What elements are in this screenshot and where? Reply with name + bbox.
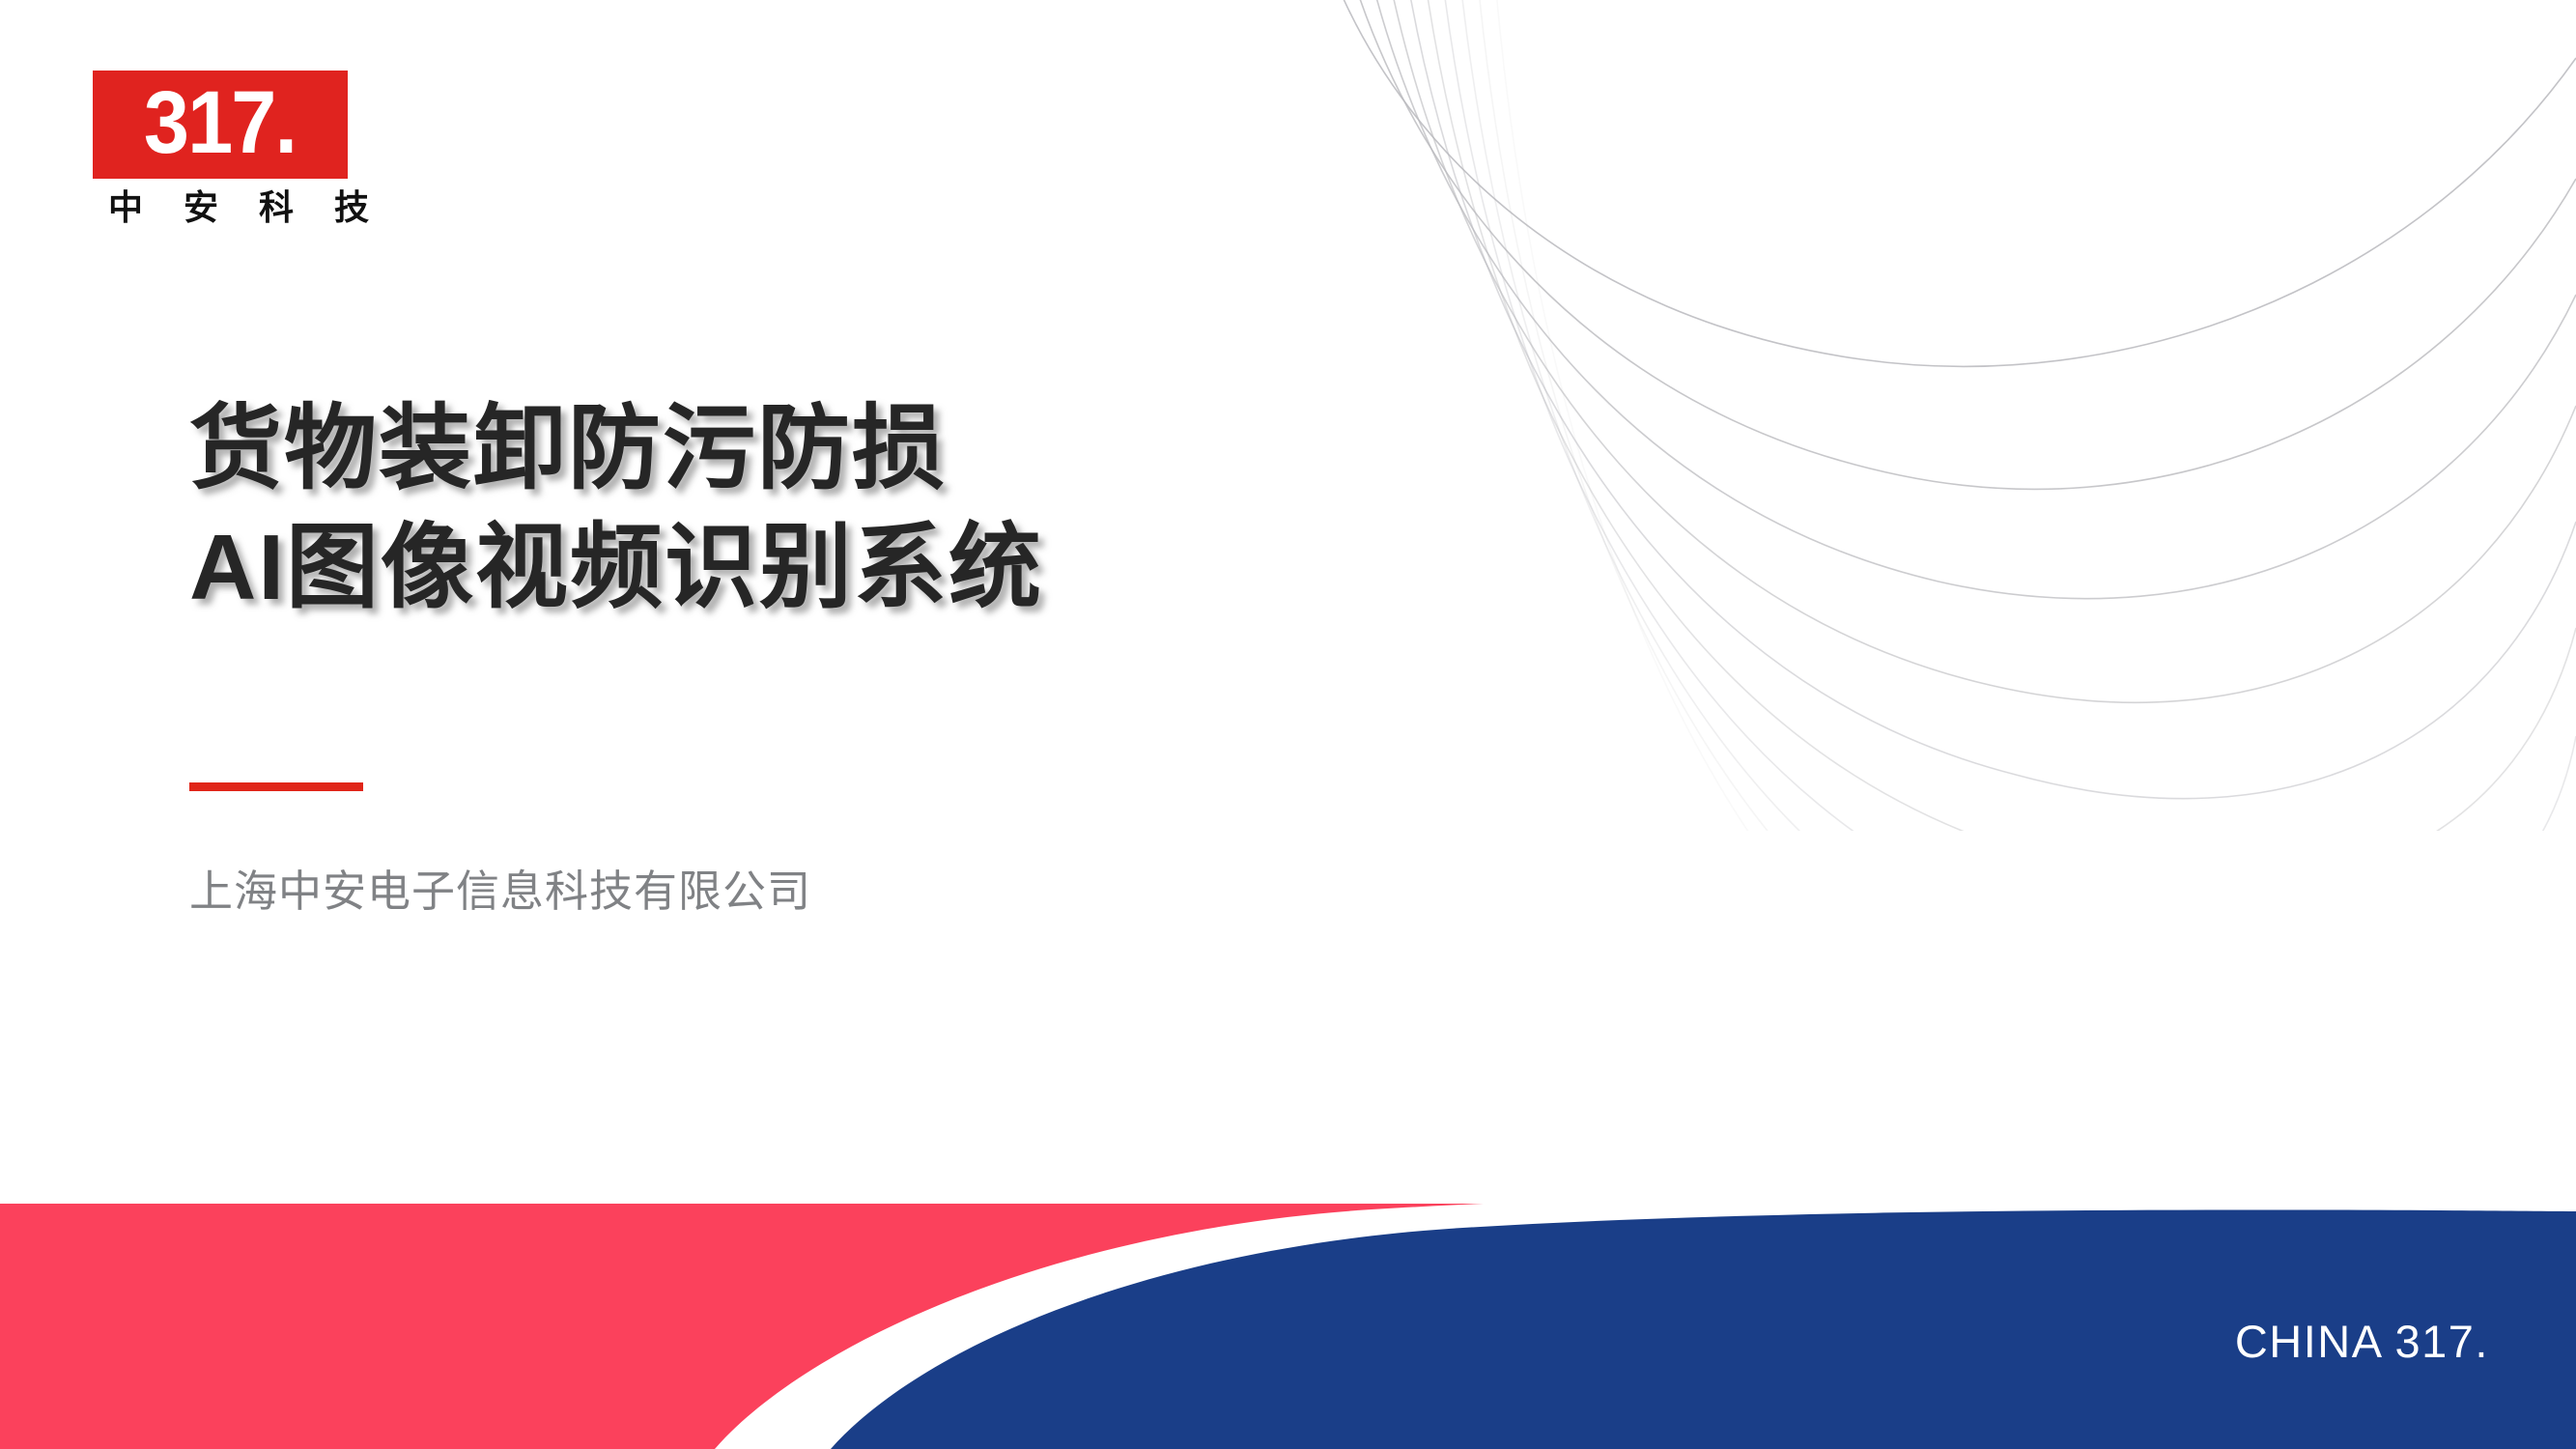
footer-banner: CHINA 317. [0, 1204, 2576, 1449]
page-title-line-2: AI图像视频识别系统 [189, 509, 1445, 628]
company-name-subtitle: 上海中安电子信息科技有限公司 [189, 866, 811, 918]
logo-mark-text: 317. [144, 78, 296, 171]
logo-company-short-name: 中 安 科 技 [93, 190, 348, 225]
title-slide: 317. 中 安 科 技 货物装卸防污防损 AI图像视频识别系统 上海中安电子信… [0, 0, 2576, 1449]
title-divider-rule [189, 782, 363, 791]
company-logo: 317. 中 安 科 技 [93, 71, 348, 225]
page-title-line-1: 货物装卸防污防损 [189, 390, 1445, 509]
footer-brand-label: CHINA 317. [2235, 1319, 2489, 1364]
page-title: 货物装卸防污防损 AI图像视频识别系统 [189, 390, 1445, 628]
footer-curve-shapes [0, 1204, 2576, 1449]
logo-mark-317: 317. [93, 71, 348, 179]
decorative-swoosh-lines [1320, 0, 2576, 831]
